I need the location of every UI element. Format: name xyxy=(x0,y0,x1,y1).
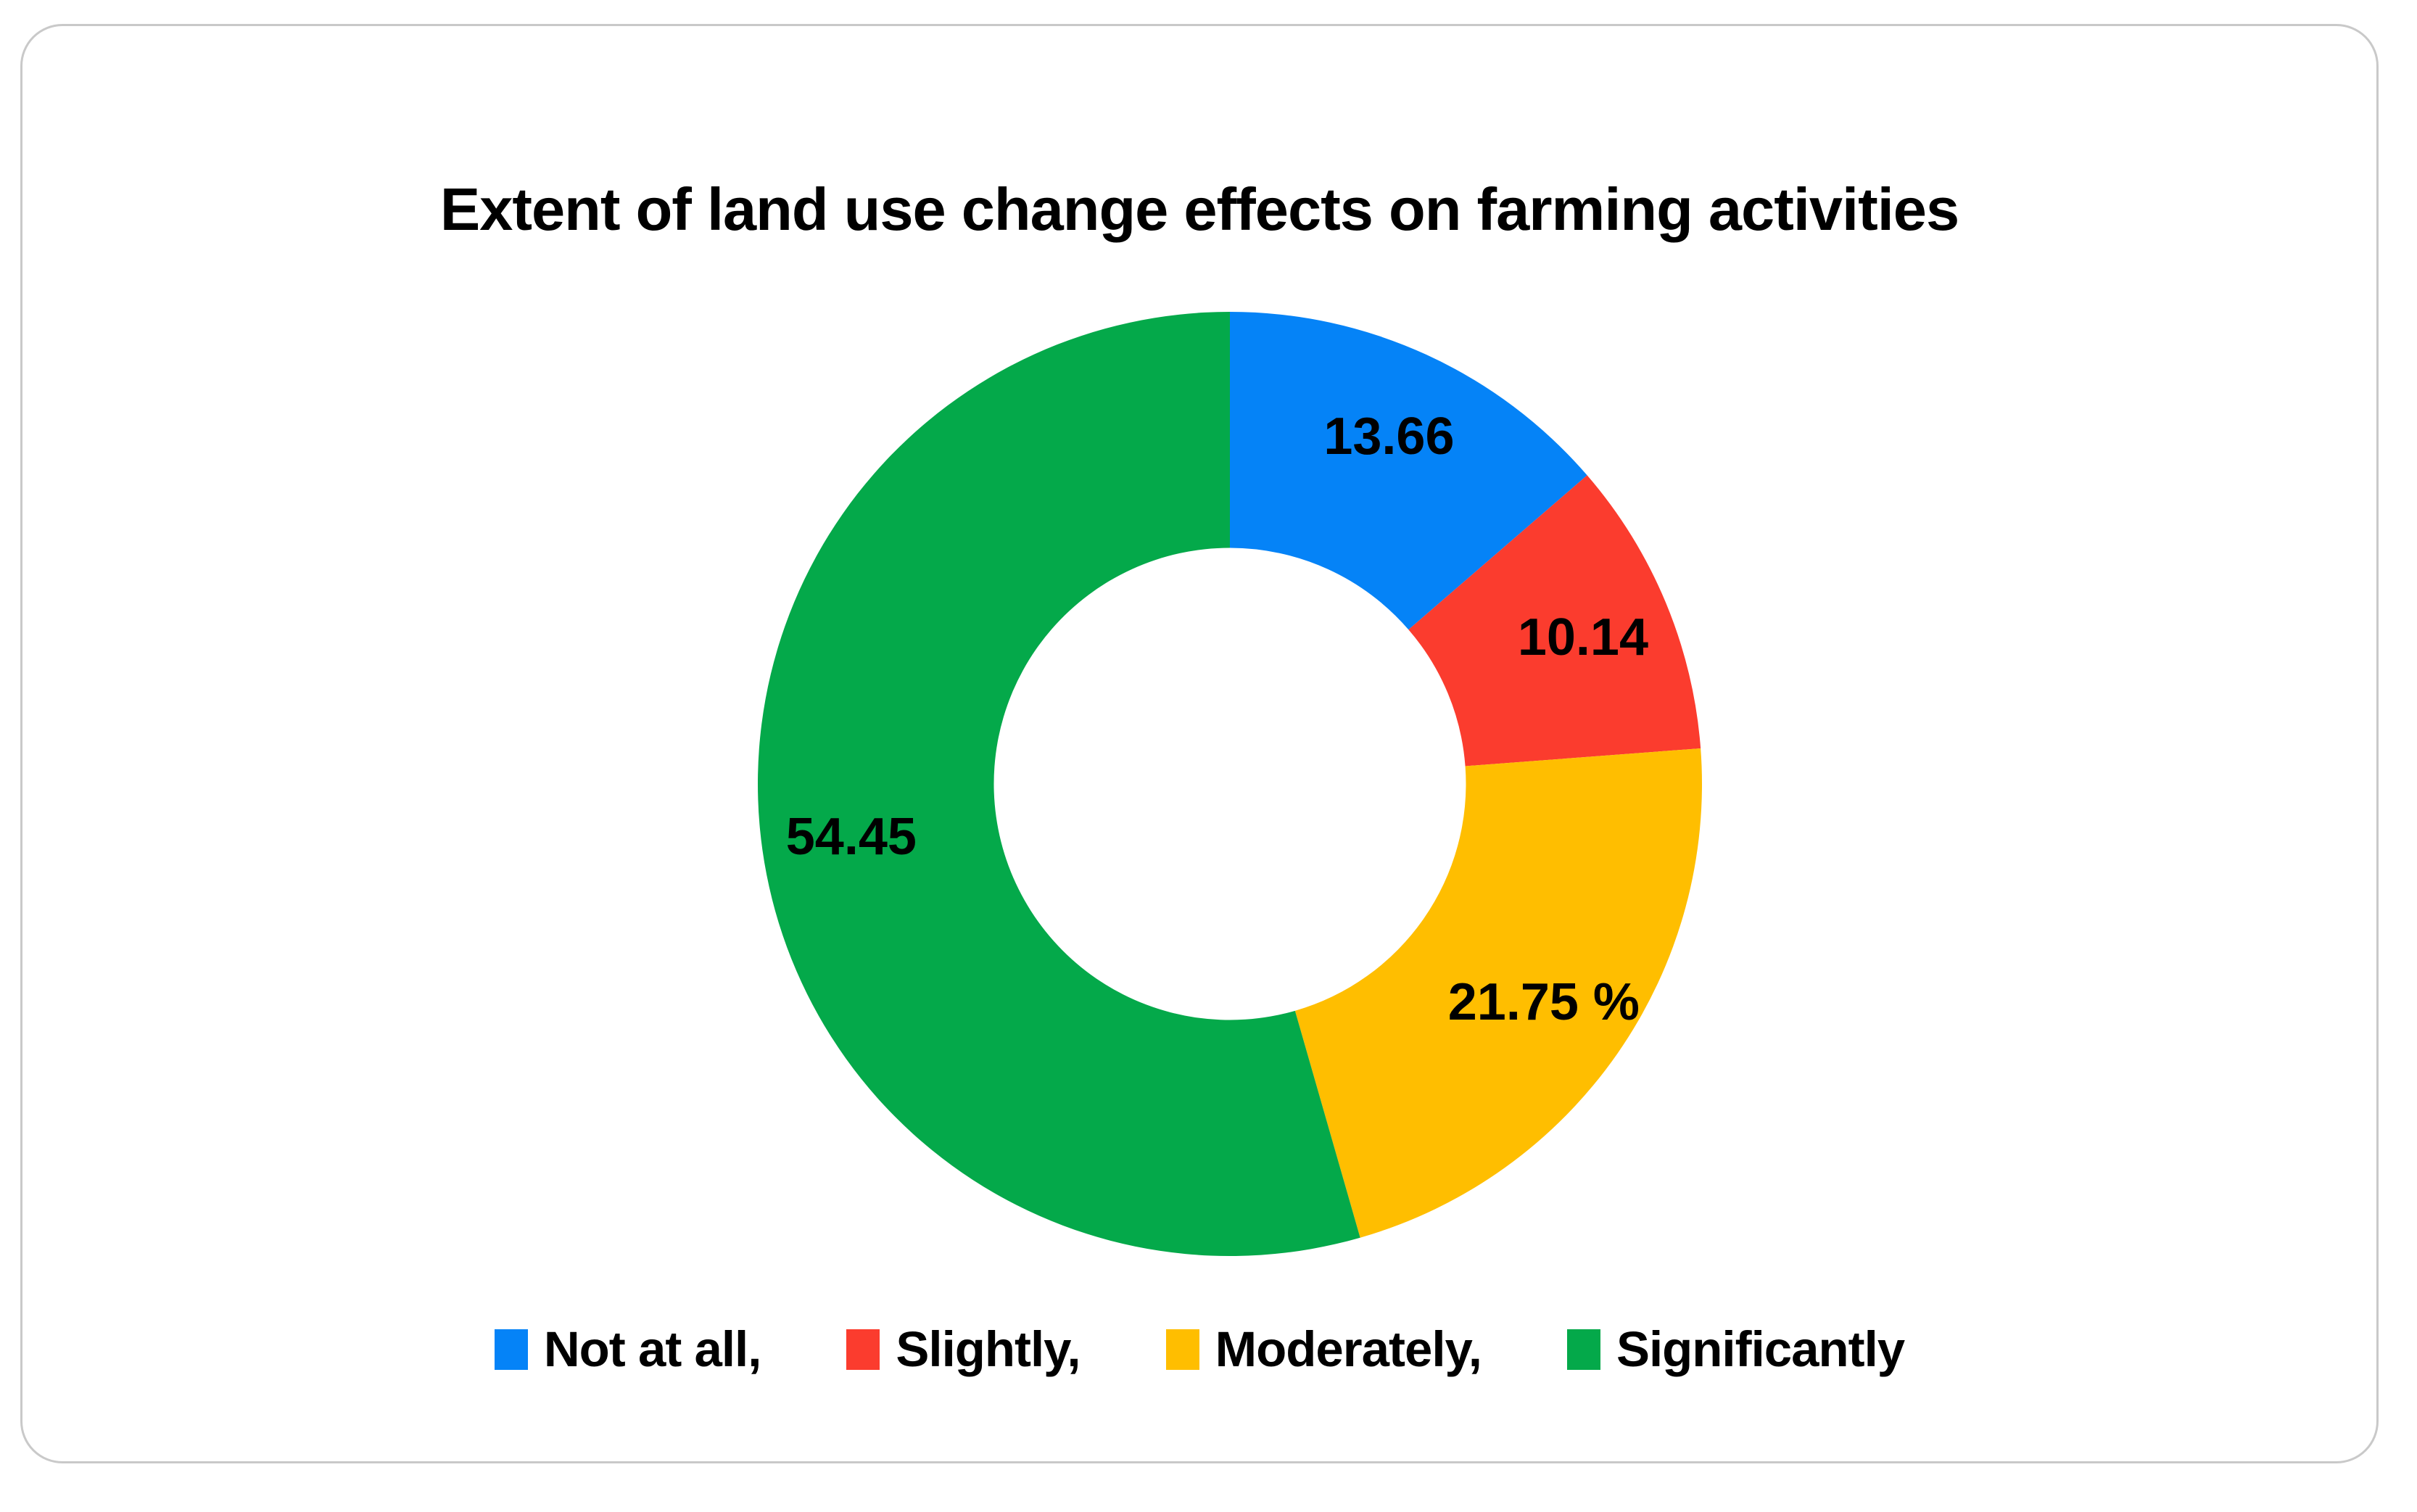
chart-title: Extent of land use change effects on far… xyxy=(22,175,2376,244)
legend-swatch-icon-4 xyxy=(1567,1329,1600,1370)
legend-label-3: Moderately, xyxy=(1215,1321,1482,1378)
donut-svg xyxy=(737,291,1723,1277)
chart-legend: Not at all,Slightly,Moderately,Significa… xyxy=(22,1321,2376,1378)
legend-item-1[interactable]: Not at all, xyxy=(495,1321,761,1378)
legend-item-2[interactable]: Slightly, xyxy=(846,1321,1080,1378)
legend-label-4: Significantly xyxy=(1616,1321,1904,1378)
figure-card: Extent of land use change effects on far… xyxy=(20,24,2379,1463)
slice-value-label-2: 10.14 xyxy=(1518,608,1648,667)
donut-chart: 13.6610.1421.75 %54.45 xyxy=(737,291,1723,1277)
donut-slice-group xyxy=(758,312,1702,1256)
slice-value-label-4: 54.45 xyxy=(786,807,917,867)
legend-swatch-icon-1 xyxy=(495,1329,528,1370)
slice-value-label-3: 21.75 % xyxy=(1448,972,1640,1032)
legend-swatch-icon-3 xyxy=(1166,1329,1199,1370)
legend-item-3[interactable]: Moderately, xyxy=(1166,1321,1482,1378)
legend-label-2: Slightly, xyxy=(896,1321,1080,1378)
slice-value-label-1: 13.66 xyxy=(1323,407,1454,466)
legend-label-1: Not at all, xyxy=(544,1321,761,1378)
legend-item-4[interactable]: Significantly xyxy=(1567,1321,1904,1378)
legend-swatch-icon-2 xyxy=(846,1329,880,1370)
